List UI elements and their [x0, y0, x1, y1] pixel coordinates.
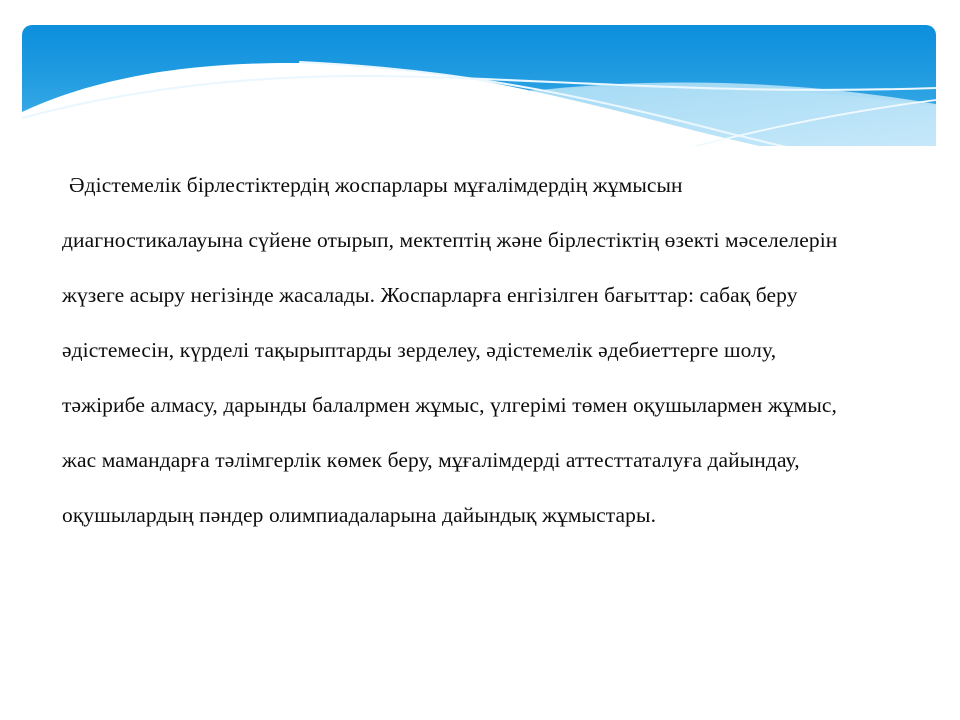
body-line-1: Әдістемелік бірлестіктердің жоспарлары м…	[62, 158, 902, 213]
body-line-2: диагностикалауына сүйене отырып, мектепт…	[62, 213, 902, 268]
body-line-4: әдістемесін, күрделі тақырыптарды зердел…	[62, 323, 902, 378]
banner-stroke-curve-lower	[640, 100, 936, 160]
slide-body-paragraph: Әдістемелік бірлестіктердің жоспарлары м…	[62, 158, 902, 543]
banner-light-band-mid	[270, 83, 936, 160]
decorative-wave-banner	[0, 0, 960, 175]
body-line-6: жас мамандарға тәлімгерлік көмек беру, м…	[62, 433, 902, 488]
body-line-7: оқушылардың пәндер олимпиадаларына дайын…	[62, 488, 902, 543]
body-line-5: тәжірибе алмасу, дарынды балалрмен жұмыс…	[62, 378, 902, 433]
banner-blue-field	[22, 25, 936, 146]
body-line-3: жүзеге асыру негізінде жасалады. Жоспарл…	[62, 268, 902, 323]
banner-light-band-far	[22, 86, 936, 160]
banner-artwork	[22, 25, 960, 175]
presentation-slide: Әдістемелік бірлестіктердің жоспарлары м…	[0, 0, 960, 720]
banner-stroke-curve-ascending	[22, 76, 936, 118]
